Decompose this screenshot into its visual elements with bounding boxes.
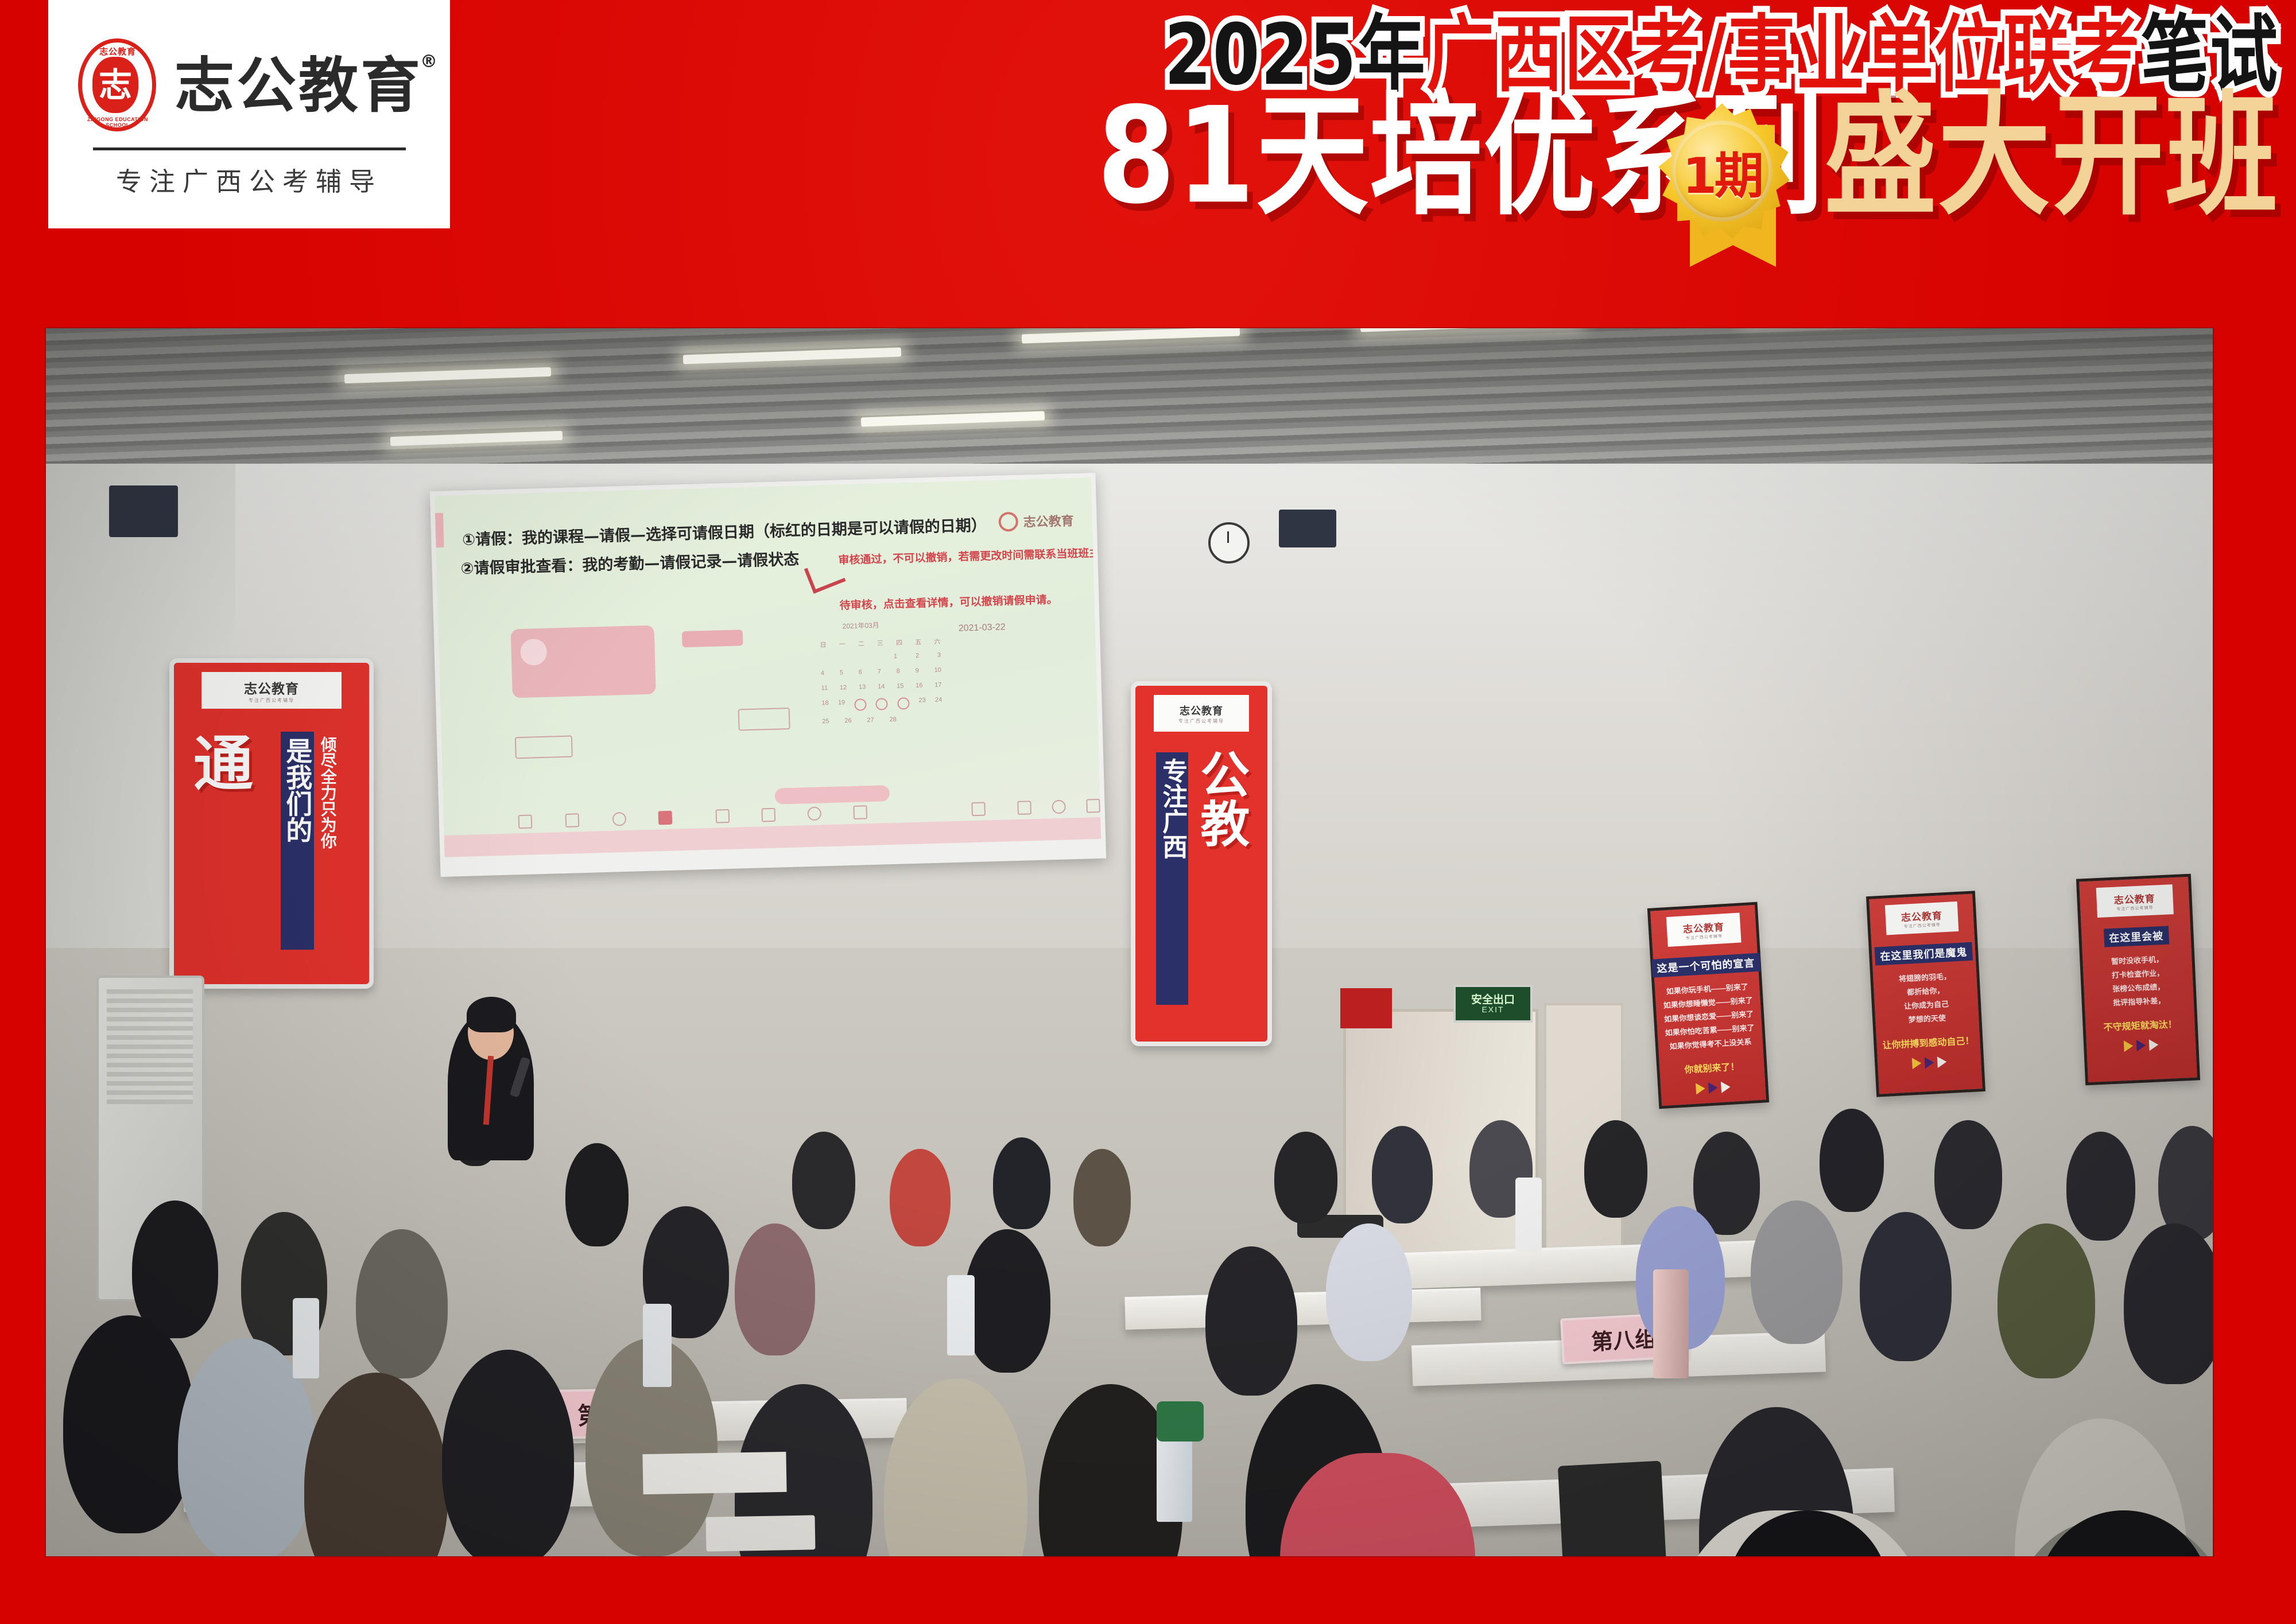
slide-accent-bar — [435, 513, 444, 547]
poster-canvas: 志公教育 志 ZHIGONG EDUCATION SCHOOL 志公教育 ® 专… — [0, 0, 2296, 1624]
brand-name-text: 志公教育 — [174, 50, 422, 121]
poster-headline: 在这里会被 — [2103, 926, 2169, 947]
poster-logo-name: 志公教育 — [2113, 890, 2155, 906]
rollup-big-text: 通 — [193, 736, 253, 793]
attendee — [1751, 1200, 1843, 1344]
wall-speaker — [1279, 510, 1336, 547]
slide-note-1: 审核通过，不可以撤销，若需更改时间需联系当班班主任核实 — [838, 545, 1101, 568]
registered-mark: ® — [420, 53, 440, 71]
attendee — [1860, 1212, 1952, 1361]
water-bottle — [293, 1298, 319, 1378]
attendee — [1584, 1120, 1647, 1218]
slide-checkbox-item — [603, 760, 658, 782]
poster-logo-name: 志公教育 — [1901, 907, 1942, 924]
poster-logo-sub: 专注广西公考辅导 — [2116, 904, 2153, 912]
poster-logo: 志公教育 专注广西公考辅导 — [2096, 884, 2173, 918]
poster-body: 暂时没收手机， 打卡检查作业， 张榜公布成绩， 批评指导补差， — [2111, 953, 2165, 1010]
slide-selected-date: 2021-03-22 — [959, 622, 1006, 634]
rollup-logo: 志公教育 专注广西公考辅导 — [1154, 695, 1249, 732]
rollup-banner-right: 志公教育 专注广西公考辅导 公教 专注广西 — [1131, 681, 1272, 1046]
thermos — [1653, 1269, 1689, 1378]
slide-profile-card — [511, 625, 656, 698]
brand-name: 志公教育 ® — [174, 56, 422, 115]
poster-logo: 志公教育 专注广西公考辅导 — [1885, 902, 1959, 935]
presenter-hair — [467, 997, 516, 1032]
slide-checkbox-item — [516, 790, 572, 811]
attendee — [792, 1132, 855, 1229]
slide-calendar: 2021年03月 日一二三四五六 123 45678910 1112131415… — [820, 622, 944, 740]
rollup-blue-text: 专注广西 — [1156, 752, 1188, 1005]
slide-line-2: ②请假审批查看：我的考勤—请假记录—请假状态 — [460, 546, 800, 578]
wall-red-box — [1340, 988, 1392, 1028]
slide-button-chip — [682, 630, 743, 647]
attendee — [1820, 1109, 1884, 1212]
rollup-logo-name: 志公教育 — [244, 678, 299, 697]
poster-body-line: 批评指导补差， — [2113, 994, 2166, 1010]
poster-arrows-icon — [1912, 1056, 1947, 1069]
wall-poster-3: 志公教育 专注广西公考辅导 在这里会被 暂时没收手机， 打卡检查作业， 张榜公布… — [2076, 874, 2200, 1086]
projection-screen-frame: 志公教育 ①请假：我的课程—请假—选择可请假日期（标红的日期是可以请假的日期） … — [430, 473, 1106, 877]
poster-body: 如果你玩手机——别来了 如果你想睡懒觉——别来了 如果你想谈恋爱——别来了 如果… — [1662, 980, 1756, 1054]
attendee — [1205, 1246, 1297, 1396]
water-bottle — [1515, 1178, 1542, 1252]
exit-sign-cn: 安全出口 — [1471, 994, 1515, 1005]
poster-body: 将翅膀的羽毛， 都折给你， 让你成为自己 梦想的天使 — [1898, 970, 1953, 1028]
badge-label: 1期 — [1671, 121, 1773, 222]
slide-logo-icon — [998, 512, 1018, 532]
attendee — [2066, 1132, 2135, 1241]
attendee — [132, 1200, 218, 1338]
attendee — [1934, 1120, 2002, 1229]
brand-logo-plate: 志公教育 志 ZHIGONG EDUCATION SCHOOL 志公教育 ® 专… — [48, 0, 450, 228]
attendee — [993, 1137, 1050, 1229]
bottle-cap — [1157, 1401, 1204, 1442]
phase-badge: 1期 — [1654, 103, 1801, 270]
poster-footer: 你就别来了！ — [1684, 1059, 1740, 1076]
seal-arc-top-text: 志公教育 — [76, 45, 160, 57]
rollup-logo-name: 志公教育 — [1180, 703, 1223, 718]
rollup-logo-sub: 专注广西公考辅导 — [1178, 718, 1224, 724]
rollup-logo-sub: 专注广西公考辅导 — [249, 697, 294, 704]
attendee — [1073, 1149, 1131, 1246]
projection-screen: 志公教育 ①请假：我的课程—请假—选择可请假日期（标红的日期是可以请假的日期） … — [435, 477, 1101, 857]
rollup-big-text: 公教 — [1196, 749, 1243, 848]
slide-logo: 志公教育 — [998, 510, 1074, 532]
attendee — [442, 1350, 574, 1556]
desk-paper — [642, 1452, 786, 1494]
attendee — [356, 1229, 448, 1378]
poster-footer: 让你拼搏到感动自己！ — [1882, 1033, 1975, 1051]
attendee — [565, 1143, 629, 1246]
exit-sign: 安全出口 EXIT — [1453, 985, 1533, 1023]
wall-poster-1: 志公教育 专注广西公考辅导 这是一个可怕的宣言 如果你玩手机——别来了 如果你想… — [1647, 902, 1769, 1109]
logo-divider — [93, 147, 406, 150]
rollup-blue-text: 是我们的 — [281, 732, 314, 950]
ceiling-shading — [46, 328, 2213, 466]
brand-seal-icon: 志公教育 志 ZHIGONG EDUCATION SCHOOL — [76, 37, 160, 134]
poster-logo: 志公教育 专注广西公考辅导 — [1666, 913, 1741, 947]
attendee — [964, 1229, 1050, 1373]
slide-calendar-title: 2021年03月 — [842, 620, 879, 631]
attendee — [1372, 1126, 1433, 1223]
poster-arrows-icon — [2124, 1039, 2159, 1052]
poster-logo-sub: 专注广西公考辅导 — [1904, 922, 1941, 929]
seal-glyph: 志 — [92, 57, 138, 113]
slide-note-2: 待审核，点击查看详情，可以撤销请假申请。 — [839, 591, 1058, 613]
attendee — [63, 1315, 195, 1533]
rollup-logo: 志公教育 专注广西公考辅导 — [201, 672, 342, 709]
headline-line-2: 81天培优系列盛大开班 1期 — [1050, 110, 2279, 248]
attendee — [1274, 1132, 1337, 1223]
slide-submit-button — [775, 785, 890, 805]
slide-checkbox-item — [515, 763, 571, 784]
logo-row: 志公教育 志 ZHIGONG EDUCATION SCHOOL 志公教育 ® — [76, 37, 422, 134]
classroom-photo: 志公教育 ①请假：我的课程—请假—选择可请假日期（标红的日期是可以请假的日期） … — [46, 328, 2213, 1556]
headline-block: 2025年广西区考/事业单位联考笔试 81天培优系列盛大开班 1期 — [1050, 13, 2279, 248]
poster-body-line: 梦想的天使 — [1901, 1011, 1953, 1028]
water-bottle — [947, 1275, 975, 1355]
poster-arrows-icon — [1696, 1081, 1731, 1095]
wall-poster-2: 志公教育 专注广西公考辅导 在这里我们是魔鬼 将翅膀的羽毛， 都折给你， 让你成… — [1866, 891, 1985, 1097]
water-bottle — [643, 1304, 672, 1387]
wall-clock — [1208, 522, 1250, 564]
brand-tagline: 专注广西公考辅导 — [116, 161, 382, 198]
wall-speaker — [109, 485, 178, 537]
attendee — [890, 1149, 951, 1246]
rollup-banner-left: 志公教育 专注广西公考辅导 通 是我们的 倾尽全力只为你 — [169, 658, 374, 989]
slide-avatar — [520, 639, 547, 666]
slide-action-box — [738, 708, 790, 731]
seal-arc-bottom-text: ZHIGONG EDUCATION SCHOOL — [76, 116, 160, 128]
poster-footer: 不守规矩就淘汰！ — [2103, 1016, 2177, 1034]
desk-chair-back — [1558, 1460, 1668, 1556]
rollup-vertical-text: 倾尽全力只为你 — [319, 736, 336, 931]
exit-sign-en: EXIT — [1481, 1005, 1504, 1013]
slide-checkbox-item — [602, 733, 658, 754]
attendee — [1998, 1223, 2095, 1378]
ac-grill — [107, 989, 193, 1104]
slide-checkbox-item — [515, 736, 573, 759]
attendee — [735, 1223, 815, 1355]
slide-logo-text: 志公教育 — [1023, 511, 1074, 530]
headline-opening-text: 盛大开班 — [1824, 90, 2279, 223]
slide-line-1: ①请假：我的课程—请假—选择可请假日期（标红的日期是可以请假的日期） — [462, 512, 987, 550]
desk-paper — [705, 1515, 815, 1551]
poster-headline: 这是一个可怕的宣言 — [1651, 953, 1761, 978]
slide-checkbox-item — [603, 787, 659, 808]
attendee — [1326, 1223, 1412, 1361]
poster-headline: 在这里我们是魔鬼 — [1875, 942, 1973, 966]
